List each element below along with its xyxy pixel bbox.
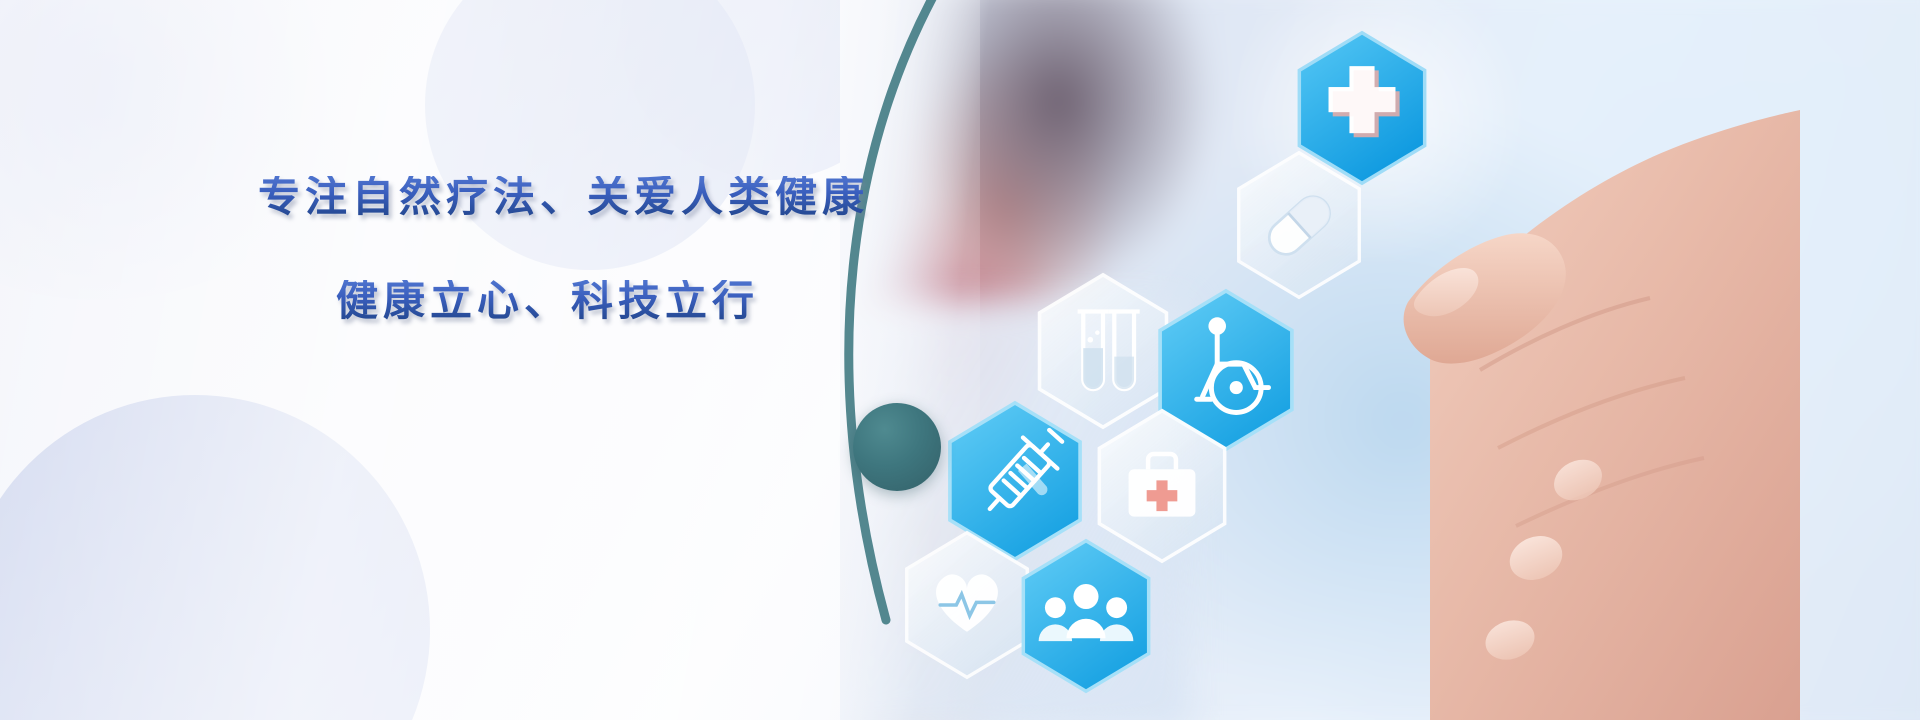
headline-line-1: 专注自然疗法、关爱人类健康 (258, 176, 878, 218)
teal-node (853, 403, 941, 491)
heart-icon (900, 530, 1034, 680)
hexagon-icon-cluster (0, 0, 1920, 720)
headline-line-2: 健康立心、科技立行 (336, 280, 878, 322)
capsule-pill-icon (1232, 150, 1366, 300)
hero-banner: 专注自然疗法、关爱人类健康 健康立心、科技立行 (0, 0, 1920, 720)
people-group-icon (1016, 538, 1156, 694)
headline-block: 专注自然疗法、关爱人类健康 健康立心、科技立行 (258, 176, 878, 322)
